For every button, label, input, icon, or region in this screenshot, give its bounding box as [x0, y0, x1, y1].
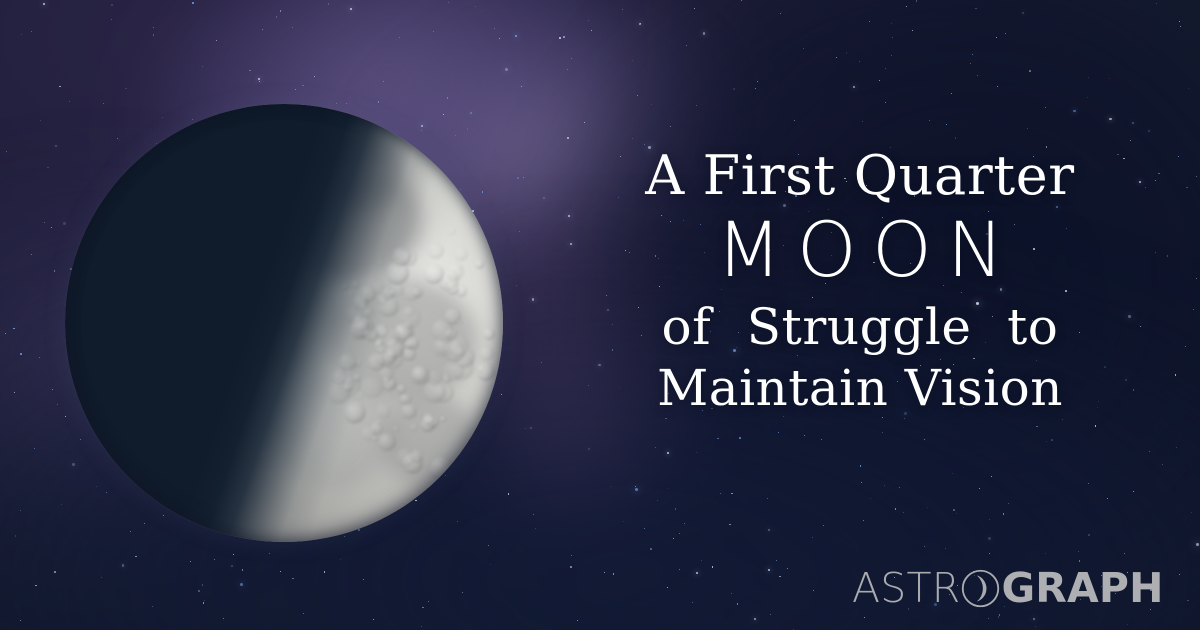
moon-disc — [65, 104, 503, 542]
banner-canvas: A First Quarter MOON of Struggle to Main… — [0, 0, 1200, 630]
moon-image — [65, 104, 503, 542]
headline-line-3: of Struggle to — [600, 296, 1120, 358]
crescent-moon-o-icon — [961, 569, 1000, 608]
headline-line-2: MOON — [600, 204, 1120, 296]
astrograph-logo[interactable]: ASTR GRAPH — [852, 566, 1164, 610]
headline-line-4: Maintain Vision — [600, 358, 1120, 418]
logo-text-astr: ASTR — [852, 568, 960, 609]
headline-line-1: A First Quarter — [600, 148, 1120, 204]
logo-text-graph: GRAPH — [1001, 568, 1163, 609]
moon-limb-shading — [65, 104, 503, 542]
headline-block: A First Quarter MOON of Struggle to Main… — [600, 148, 1120, 418]
